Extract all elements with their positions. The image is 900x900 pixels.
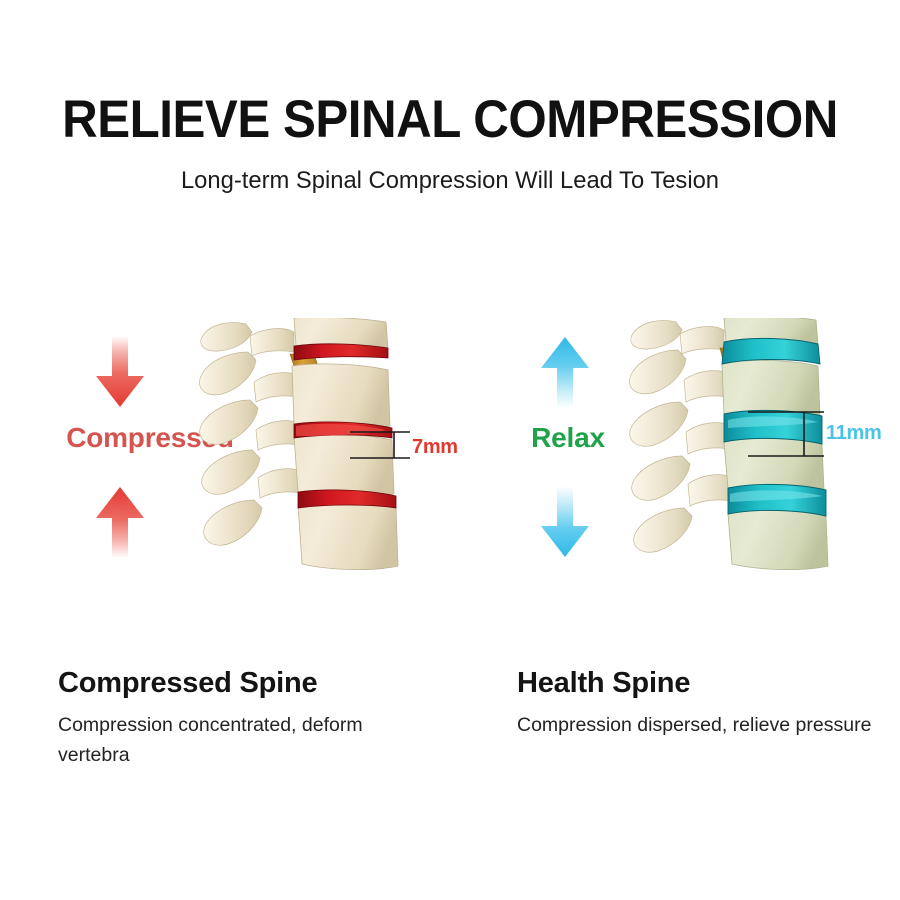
compressed-spine-panel: Compressed	[0, 300, 450, 590]
arrow-down-icon	[94, 336, 146, 408]
infographic-page: RELIEVE SPINAL COMPRESSION Long-term Spi…	[0, 0, 900, 900]
arrow-up-icon	[539, 336, 591, 408]
caption-compressed-spine: Compressed Spine Compression concentrate…	[58, 664, 478, 770]
arrow-up-icon	[94, 486, 146, 558]
caption-body: Compression concentrated, deform vertebr…	[58, 710, 438, 770]
compressed-measurement-callout: 7mm	[350, 418, 450, 478]
comparison-diagram: Compressed	[0, 300, 900, 590]
health-spine-panel: Relax	[450, 300, 900, 590]
health-measurement-callout: 11mm	[748, 404, 900, 464]
caption-title: Health Spine	[517, 664, 900, 702]
caption-body: Compression dispersed, relieve pressure	[517, 710, 889, 740]
health-measurement-value: 11mm	[826, 422, 882, 445]
caption-row: Compressed Spine Compression concentrate…	[0, 664, 900, 844]
caption-health-spine: Health Spine Compression dispersed, reli…	[517, 664, 900, 740]
caption-title: Compressed Spine	[58, 664, 478, 702]
arrow-down-icon	[539, 486, 591, 558]
page-subtitle: Long-term Spinal Compression Will Lead T…	[14, 165, 887, 197]
page-title: RELIEVE SPINAL COMPRESSION	[32, 92, 869, 148]
